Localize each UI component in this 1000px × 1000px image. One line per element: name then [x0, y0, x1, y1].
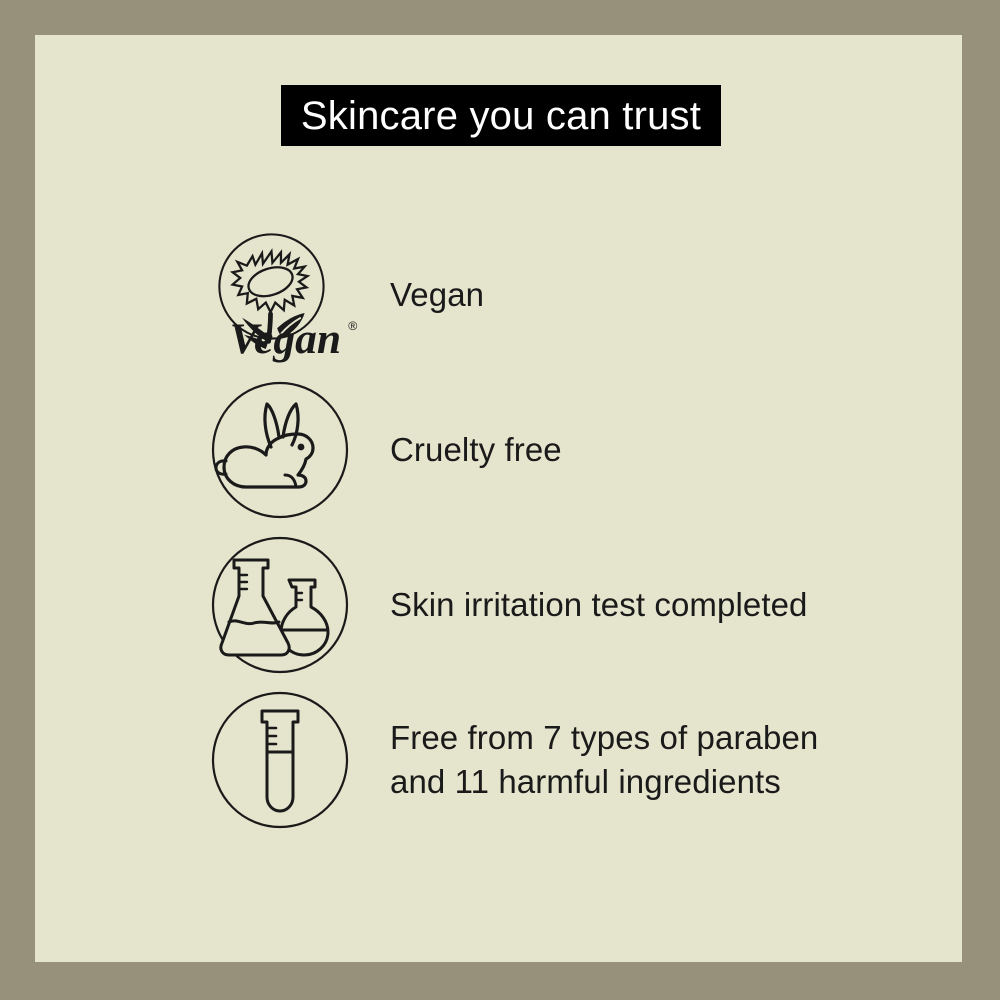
feature-label-cruelty-free: Cruelty free [390, 429, 562, 471]
feature-item-paraben-free: Free from 7 types of paraben and 11 harm… [190, 685, 818, 835]
feature-label-vegan: Vegan [390, 274, 484, 316]
registered-trademark-symbol: ® [348, 319, 357, 333]
infographic-card: Skincare you can trust [0, 0, 1000, 1000]
page-title: Skincare you can trust [301, 96, 701, 136]
feature-item-cruelty-free: Cruelty free [190, 375, 562, 525]
vegan-society-trademark-logo: Vegan ® [190, 220, 370, 370]
flasks-icon [190, 530, 370, 680]
test-tube-icon [190, 685, 370, 835]
title-banner: Skincare you can trust [281, 85, 721, 146]
rabbit-icon [190, 375, 370, 525]
feature-item-vegan: Vegan ® Vegan [190, 220, 484, 370]
content-panel: Skincare you can trust [35, 35, 962, 962]
feature-label-paraben-free: Free from 7 types of paraben and 11 harm… [390, 716, 818, 803]
feature-item-skin-irritation-test: Skin irritation test completed [190, 530, 808, 680]
vegan-wordmark: Vegan [230, 315, 341, 363]
feature-label-skin-irritation-test: Skin irritation test completed [390, 584, 808, 626]
